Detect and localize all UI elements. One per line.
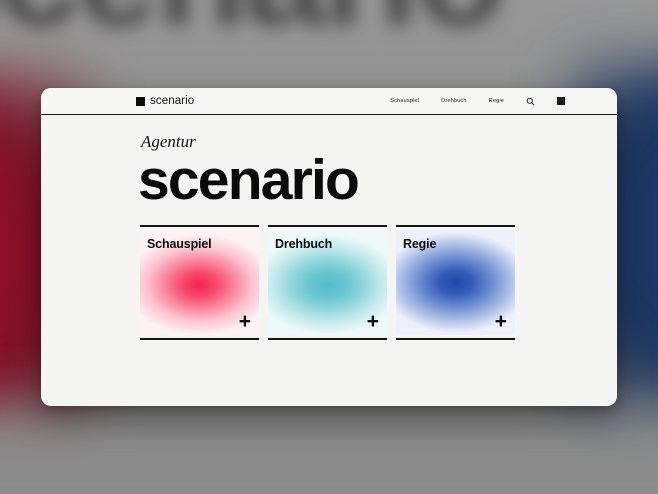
card-bottom-rule bbox=[268, 338, 387, 340]
card-top-rule bbox=[396, 225, 515, 227]
card-bottom-rule bbox=[396, 338, 515, 340]
card-body: Drehbuch + bbox=[268, 230, 387, 335]
search-icon[interactable] bbox=[526, 97, 535, 106]
card-title: Drehbuch bbox=[275, 237, 332, 251]
menu-square-icon[interactable] bbox=[557, 97, 565, 105]
site-navbar: scenario Schauspiel Drehbuch Regie bbox=[41, 88, 617, 115]
browser-window: scenario Schauspiel Drehbuch Regie Age bbox=[41, 88, 617, 406]
card-plus-icon[interactable]: + bbox=[367, 311, 379, 332]
card-body: Regie + bbox=[396, 230, 515, 335]
backdrop-word: scenario bbox=[0, 0, 503, 48]
hero-title: scenario bbox=[138, 153, 617, 209]
card-plus-icon[interactable]: + bbox=[495, 311, 507, 332]
card-body: Schauspiel + bbox=[140, 230, 259, 335]
page-content: Agentur scenario Schauspiel + bbox=[41, 115, 617, 406]
menu-square-glyph bbox=[557, 97, 565, 105]
nav-link-regie[interactable]: Regie bbox=[489, 98, 504, 104]
navbar-right-group: Schauspiel Drehbuch Regie bbox=[390, 97, 617, 106]
category-card-grid: Schauspiel + Drehbuch + bbox=[140, 225, 617, 340]
card-title: Regie bbox=[403, 237, 436, 251]
card-bottom-rule bbox=[140, 338, 259, 340]
card-title: Schauspiel bbox=[147, 237, 212, 251]
brand-label: scenario bbox=[150, 95, 194, 107]
nav-link-schauspiel[interactable]: Schauspiel bbox=[390, 98, 419, 104]
filled-square-icon bbox=[136, 97, 145, 106]
category-card-schauspiel[interactable]: Schauspiel + bbox=[140, 225, 259, 340]
card-top-rule bbox=[140, 225, 259, 227]
category-card-drehbuch[interactable]: Drehbuch + bbox=[268, 225, 387, 340]
card-top-rule bbox=[268, 225, 387, 227]
card-plus-icon[interactable]: + bbox=[239, 311, 251, 332]
brand-logo[interactable]: scenario bbox=[136, 95, 194, 107]
category-card-regie[interactable]: Regie + bbox=[396, 225, 515, 340]
nav-link-drehbuch[interactable]: Drehbuch bbox=[441, 98, 466, 104]
screenshot-stage: scenario scenario Schauspiel Drehbuch Re… bbox=[0, 0, 658, 494]
